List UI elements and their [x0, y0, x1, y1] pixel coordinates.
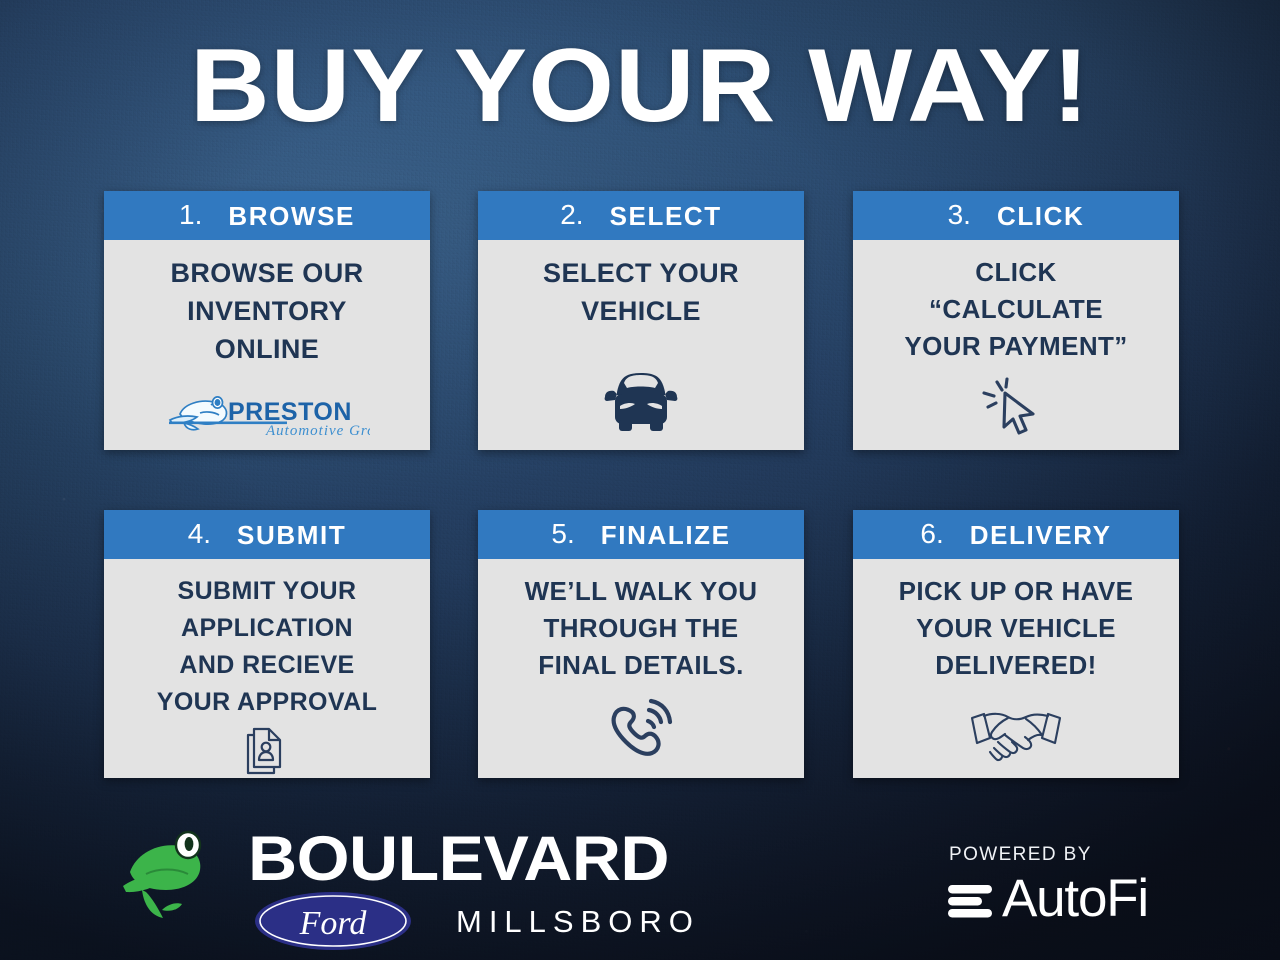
step-6-header: 6. DELIVERY: [853, 510, 1179, 559]
step-6-art: [863, 704, 1169, 766]
step-card-1: 1. BROWSE BROWSE OUR INVENTORY ONLINE: [104, 191, 430, 450]
step-4-header: 4. SUBMIT: [104, 510, 430, 559]
step-card-4: 4. SUBMIT SUBMIT YOUR APPLICATION AND RE…: [104, 510, 430, 778]
preston-logo: PRESTON Automotive Group: [114, 390, 420, 438]
application-document-icon: [238, 721, 296, 777]
preston-automotive-group-logo-icon: PRESTON Automotive Group: [164, 390, 370, 438]
step-5-body: WE’LL WALK YOU THROUGH THE FINAL DETAILS…: [478, 559, 804, 778]
frog-logo-icon: [118, 828, 230, 934]
step-4-label: SUBMIT: [237, 522, 346, 548]
autofi-lockup: POWERED BY AutoFi: [946, 844, 1196, 940]
autofi-brand: AutoFi: [946, 871, 1196, 927]
step-5-label: FINALIZE: [601, 522, 731, 548]
step-card-6: 6. DELIVERY PICK UP OR HAVE YOUR VEHICLE…: [853, 510, 1179, 778]
step-5-header: 5. FINALIZE: [478, 510, 804, 559]
step-2-label: SELECT: [610, 203, 722, 229]
step-3-art: [863, 376, 1169, 438]
step-card-5: 5. FINALIZE WE’LL WALK YOU THROUGH THE F…: [478, 510, 804, 778]
phone-ringing-icon: [604, 696, 678, 766]
step-1-body: BROWSE OUR INVENTORY ONLINE PRESTON: [104, 240, 430, 450]
page-title: BUY YOUR WAY!: [0, 30, 1280, 142]
poster-canvas: BUY YOUR WAY! 1. BROWSE BROWSE OUR INVEN…: [0, 0, 1280, 960]
step-2-text: SELECT YOUR VEHICLE: [543, 254, 739, 330]
step-6-number: 6.: [920, 520, 943, 548]
step-6-body: PICK UP OR HAVE YOUR VEHICLE DELIVERED!: [853, 559, 1179, 778]
powered-by-label: POWERED BY: [949, 844, 1196, 866]
partner-name: AutoFi: [1002, 871, 1148, 927]
step-3-body: CLICK “CALCULATE YOUR PAYMENT”: [853, 240, 1179, 450]
boulevard-ford-lockup: BOULEVARD Ford MILLSBORO: [118, 820, 738, 952]
step-5-number: 5.: [551, 520, 574, 548]
svg-text:PRESTON: PRESTON: [228, 398, 352, 426]
step-4-body: SUBMIT YOUR APPLICATION AND RECIEVE YOUR…: [104, 559, 430, 789]
step-6-label: DELIVERY: [970, 522, 1112, 548]
step-4-text: SUBMIT YOUR APPLICATION AND RECIEVE YOUR…: [157, 573, 378, 721]
step-5-text: WE’LL WALK YOU THROUGH THE FINAL DETAILS…: [525, 573, 758, 684]
ford-logo: Ford: [253, 890, 413, 952]
step-1-number: 1.: [179, 201, 202, 229]
autofi-bars-icon: [946, 874, 994, 924]
step-4-number: 4.: [188, 520, 211, 548]
step-4-art: [114, 721, 420, 777]
step-3-text: CLICK “CALCULATE YOUR PAYMENT”: [904, 254, 1127, 365]
handshake-icon: [968, 704, 1064, 766]
step-1-label: BROWSE: [228, 203, 355, 229]
step-3-header: 3. CLICK: [853, 191, 1179, 240]
dealer-location: MILLSBORO: [456, 904, 700, 940]
step-2-number: 2.: [560, 201, 583, 229]
dealer-name: BOULEVARD: [248, 826, 669, 892]
step-2-art: [488, 364, 794, 438]
step-1-header: 1. BROWSE: [104, 191, 430, 240]
svg-text:Automotive Group: Automotive Group: [265, 423, 370, 438]
step-5-art: [488, 696, 794, 766]
step-card-2: 2. SELECT SELECT YOUR VEHICLE: [478, 191, 804, 450]
ford-wordmark: Ford: [299, 905, 368, 942]
click-cursor-icon: [979, 376, 1053, 438]
step-6-text: PICK UP OR HAVE YOUR VEHICLE DELIVERED!: [899, 573, 1134, 684]
step-card-3: 3. CLICK CLICK “CALCULATE YOUR PAYMENT”: [853, 191, 1179, 450]
step-1-text: BROWSE OUR INVENTORY ONLINE: [171, 254, 364, 368]
step-3-number: 3.: [948, 201, 971, 229]
step-2-header: 2. SELECT: [478, 191, 804, 240]
footer-branding: BOULEVARD Ford MILLSBORO POWERED BY Auto…: [0, 812, 1280, 960]
step-3-label: CLICK: [997, 203, 1084, 229]
car-icon: [595, 364, 687, 438]
step-2-body: SELECT YOUR VEHICLE: [478, 240, 804, 450]
